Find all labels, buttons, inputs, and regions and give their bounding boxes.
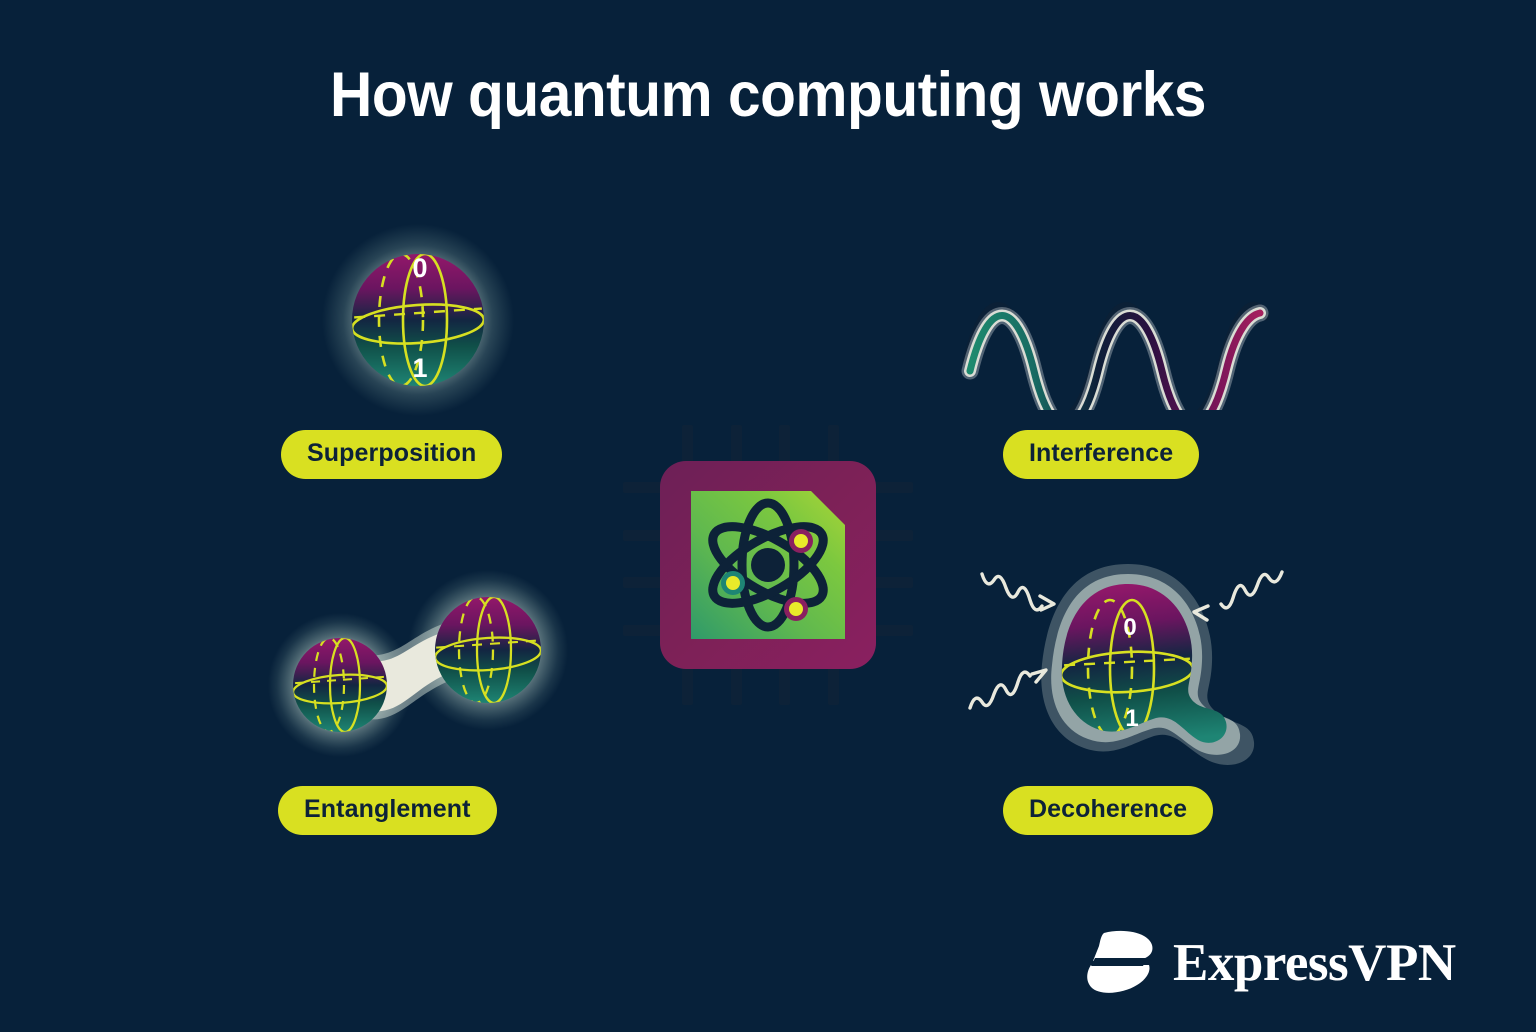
distorted-bloch-sphere-icon: 0 1 bbox=[960, 550, 1290, 780]
concept-label-superposition[interactable]: Superposition bbox=[281, 430, 502, 479]
bloch-sphere-icon: 0 1 bbox=[308, 220, 528, 420]
content-panel: 0 1 Superposition bbox=[198, 175, 1338, 903]
decoherence-illustration: 0 1 bbox=[960, 550, 1290, 780]
quantum-chip-icon bbox=[623, 425, 913, 705]
expressvpn-e-logo-icon bbox=[1085, 930, 1157, 996]
concept-label-interference[interactable]: Interference bbox=[1003, 430, 1199, 479]
concept-label-entanglement[interactable]: Entanglement bbox=[278, 786, 497, 835]
linked-bloch-spheres-icon bbox=[238, 550, 568, 780]
concept-label-decoherence[interactable]: Decoherence bbox=[1003, 786, 1213, 835]
entanglement-illustration bbox=[238, 550, 568, 780]
page-title: How quantum computing works bbox=[54, 62, 1482, 128]
interference-illustration bbox=[960, 265, 1270, 410]
brand-wordmark: ExpressVPN bbox=[1173, 937, 1456, 990]
state-label-zero: 0 bbox=[1123, 614, 1136, 641]
state-label-one: 1 bbox=[412, 353, 427, 383]
state-label-one: 1 bbox=[1125, 705, 1138, 732]
state-label-zero: 0 bbox=[412, 253, 427, 283]
atom-nucleus bbox=[751, 548, 785, 582]
quantum-chip-illustration bbox=[623, 425, 913, 705]
expressvpn-logo[interactable]: ExpressVPN bbox=[1085, 922, 1430, 1004]
infographic-canvas: How quantum computing works bbox=[0, 0, 1536, 1032]
superposition-illustration: 0 1 bbox=[308, 220, 528, 420]
wave-interference-icon bbox=[960, 265, 1270, 410]
